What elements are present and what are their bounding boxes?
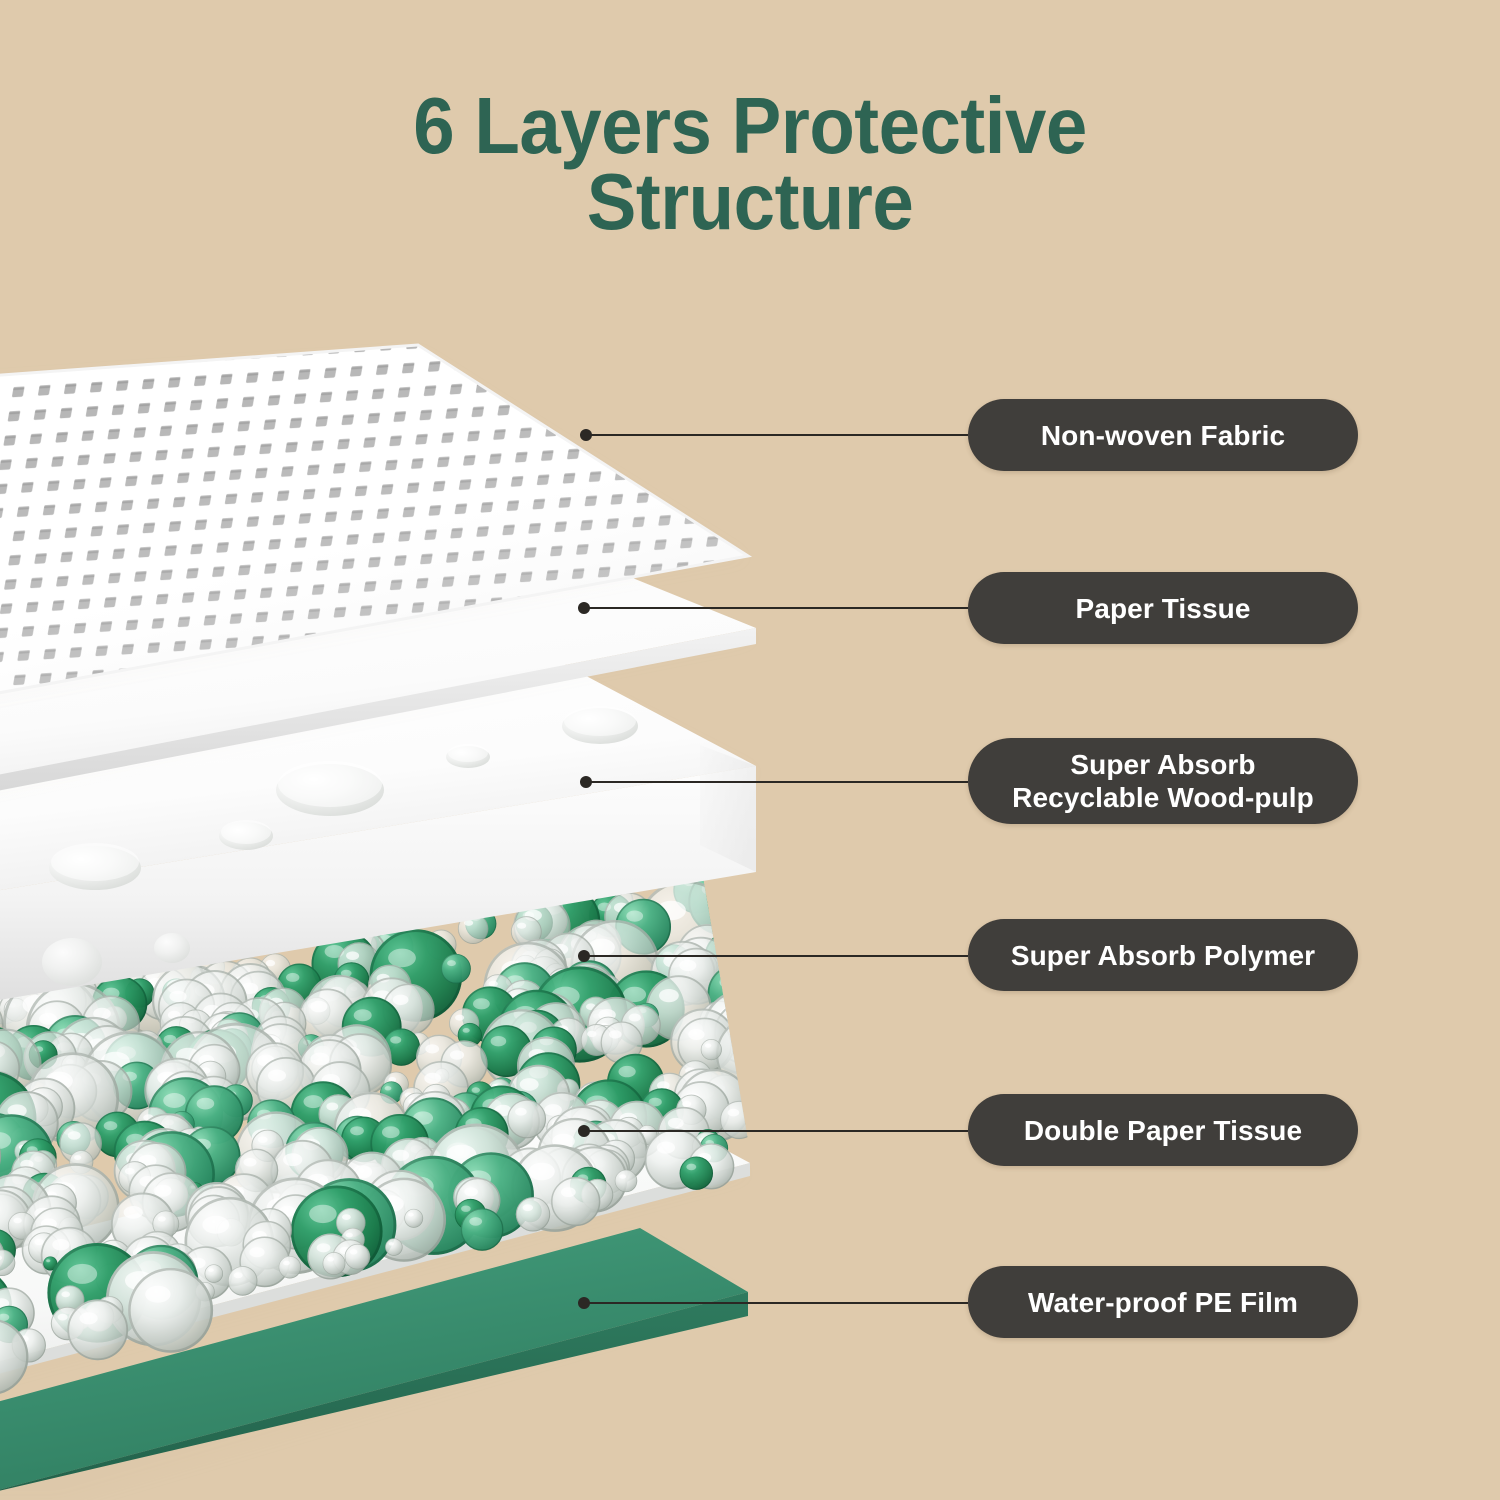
gel-bead-highlight — [346, 1233, 353, 1238]
gel-bead-highlight — [732, 1032, 756, 1048]
gel-bead-highlight — [472, 1087, 480, 1093]
gel-bead-highlight — [310, 1001, 327, 1013]
gel-bead-highlight — [169, 991, 186, 1002]
gel-bead-highlight — [743, 1025, 755, 1033]
gel-bead-highlight — [408, 1213, 414, 1217]
gel-bead-highlight — [67, 1264, 97, 1284]
gel-bead-highlight — [447, 960, 456, 966]
gel-bead-highlight — [464, 1187, 478, 1196]
leader-line-wood-pulp — [585, 781, 968, 783]
gel-bead-highlight — [13, 1218, 21, 1224]
gel-bead-rim — [724, 935, 755, 966]
leader-line-water-proof-pe-film — [583, 1302, 968, 1304]
gel-bead-highlight — [244, 1158, 257, 1167]
gel-bead-highlight — [268, 1070, 286, 1082]
gel-bead-highlight — [342, 1214, 351, 1220]
gel-bead-highlight — [283, 1261, 290, 1266]
gel-bead-highlight — [154, 1185, 172, 1197]
gel-bead-highlight — [249, 1247, 264, 1257]
leader-line-paper-tissue — [583, 607, 968, 609]
gel-bead-highlight — [469, 1217, 482, 1226]
gel-bead-highlight — [686, 1164, 696, 1171]
gel-bead-highlight — [520, 1078, 539, 1091]
gel-bead-highlight — [587, 1031, 597, 1037]
gel-bead-highlight — [74, 1155, 81, 1160]
gel-bead-clear — [723, 935, 755, 967]
gel-bead-highlight — [80, 1312, 98, 1324]
gel-bead-highlight — [728, 1109, 740, 1117]
gel-bead-clear — [737, 1025, 771, 1059]
gel-bead-highlight — [517, 923, 526, 929]
gel-bead-highlight — [326, 1103, 338, 1111]
gel-bead-highlight — [317, 1243, 331, 1252]
gel-bead-highlight — [286, 973, 299, 982]
gel-bead-highlight — [388, 949, 416, 968]
gel-bead-rim — [716, 948, 743, 975]
gel-bead-highlight — [463, 1028, 470, 1033]
gel-bead-highlight — [424, 1073, 441, 1084]
layer-stack-illustration — [0, 0, 1500, 1500]
gel-bead-highlight — [523, 1204, 533, 1211]
gel-bead-green — [735, 1017, 775, 1057]
gel-bead-highlight — [385, 1086, 392, 1090]
gel-bead-highlight — [720, 976, 738, 988]
gel-bead-highlight — [163, 1093, 185, 1108]
leader-line-super-absorb-polymer — [583, 955, 968, 957]
gel-bead-highlight — [354, 1009, 372, 1021]
gel-bead-highlight — [619, 1066, 636, 1077]
gel-bead-highlight — [529, 1163, 555, 1181]
gel-bead-highlight — [58, 1314, 68, 1321]
gel-bead-highlight — [346, 951, 359, 960]
gel-bead-highlight — [544, 1104, 562, 1116]
gel-bead-highlight — [350, 1249, 358, 1254]
gel-bead-highlight — [125, 1168, 135, 1175]
gel-bead-highlight — [629, 1014, 641, 1022]
gel-bead-highlight — [197, 1098, 215, 1110]
gel-bead-highlight — [668, 1118, 684, 1128]
gel-bead-highlight — [425, 1044, 439, 1053]
gel-bead-highlight — [52, 1239, 69, 1250]
gel-bead-highlight — [715, 942, 731, 953]
gel-bead-highlight — [327, 1257, 334, 1262]
gel-bead-highlight — [392, 1150, 409, 1161]
gel-bead-highlight — [679, 960, 696, 971]
gel-bead-highlight — [473, 998, 490, 1009]
gel-bead-clear — [715, 947, 742, 974]
gel-bead-highlight — [145, 1286, 170, 1303]
gel-bead-highlight — [208, 1268, 214, 1272]
gel-bead-highlight — [743, 1032, 753, 1039]
gel-bead-highlight — [455, 1015, 464, 1021]
leader-line-non-woven-fabric — [585, 434, 968, 436]
gel-bead-highlight — [304, 1095, 324, 1108]
gel-bead-highlight — [266, 960, 275, 966]
gel-bead-highlight — [389, 1077, 397, 1082]
gel-bead-highlight — [657, 1142, 675, 1154]
gel-bead-highlight — [705, 1044, 711, 1048]
gel-bead-highlight — [46, 1259, 50, 1262]
gel-bead-highlight — [688, 1029, 704, 1040]
gel-bead-highlight — [350, 1126, 364, 1135]
gel-bead-highlight — [124, 1206, 143, 1219]
gel-bead-highlight — [389, 1242, 394, 1245]
gel-bead-highlight — [619, 1174, 626, 1178]
gel-bead-highlight — [61, 1291, 70, 1297]
gel-bead-highlight — [609, 1030, 622, 1038]
gel-bead-highlight — [202, 1216, 229, 1234]
gel-bead-highlight — [682, 1101, 691, 1107]
gel-bead-highlight — [393, 995, 409, 1005]
gel-bead-highlight — [515, 1108, 527, 1116]
gel-bead-highlight — [382, 1126, 400, 1138]
leader-line-double-paper-tissue — [583, 1130, 968, 1132]
gel-bead-highlight — [234, 1272, 243, 1278]
gel-bead-highlight — [310, 1053, 329, 1066]
gel-bead-highlight — [561, 1187, 576, 1197]
gel-bead-highlight — [104, 1121, 118, 1130]
gel-bead-highlight — [727, 1015, 746, 1028]
gel-bead-highlight — [491, 1036, 507, 1046]
gel-bead-highlight — [738, 877, 757, 890]
gel-bead-highlight — [461, 1206, 471, 1212]
gel-bead-highlight — [158, 1216, 166, 1221]
gel-bead-highlight — [729, 942, 739, 948]
gel-bead-highlight — [34, 1239, 43, 1245]
gel-bead-highlight — [659, 989, 679, 1002]
gel-bead-highlight — [489, 981, 498, 987]
gel-bead-highlight — [626, 911, 643, 922]
infographic-canvas: 6 Layers Protective Structure — [0, 0, 1500, 1500]
gel-bead-rim — [735, 1017, 774, 1056]
gel-bead-highlight — [283, 1153, 302, 1166]
gel-bead-highlight — [309, 1205, 337, 1223]
gel-bead-highlight — [390, 1036, 401, 1043]
gel-bead-highlight — [68, 1131, 81, 1140]
gel-bead-rim — [737, 1026, 770, 1059]
gel-bead-highlight — [258, 1137, 268, 1143]
gel-bead-highlight — [450, 1050, 464, 1059]
